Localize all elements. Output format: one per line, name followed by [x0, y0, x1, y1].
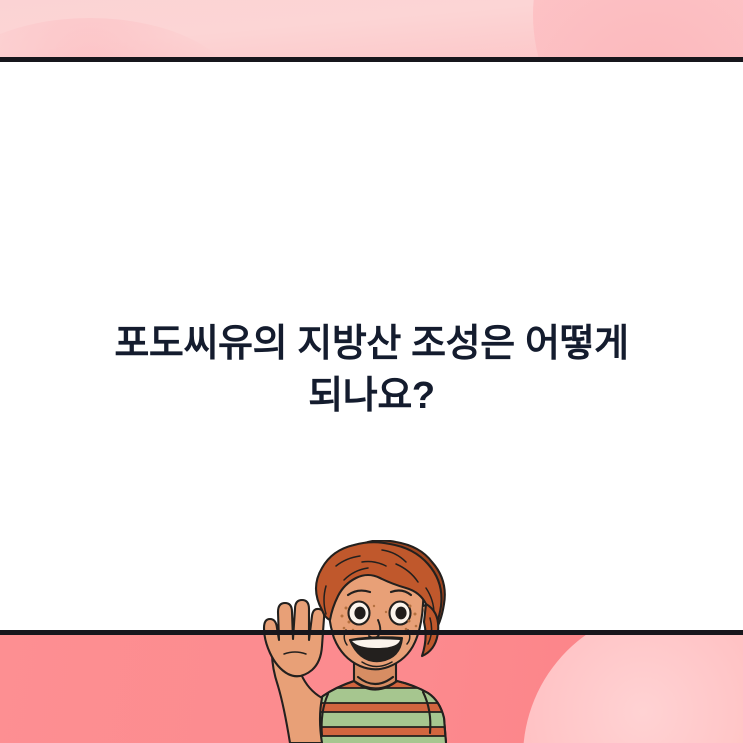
page-title: 포도씨유의 지방산 조성은 어떻게 되나요? [0, 318, 743, 422]
page-title-line-2: 되나요? [0, 370, 743, 422]
bottom-divider-rule [0, 630, 743, 635]
page-title-line-1: 포도씨유의 지방산 조성은 어떻게 [0, 318, 743, 370]
top-band-blob-left [0, 18, 240, 57]
top-divider-rule [0, 57, 743, 62]
top-decorative-band [0, 0, 743, 57]
waving-cartoon-person-illustration [250, 540, 500, 743]
top-band-blob-right [533, 0, 743, 57]
bottom-band-blob-right [523, 635, 743, 743]
qa-card: 포도씨유의 지방산 조성은 어떻게 되나요? [0, 0, 743, 743]
